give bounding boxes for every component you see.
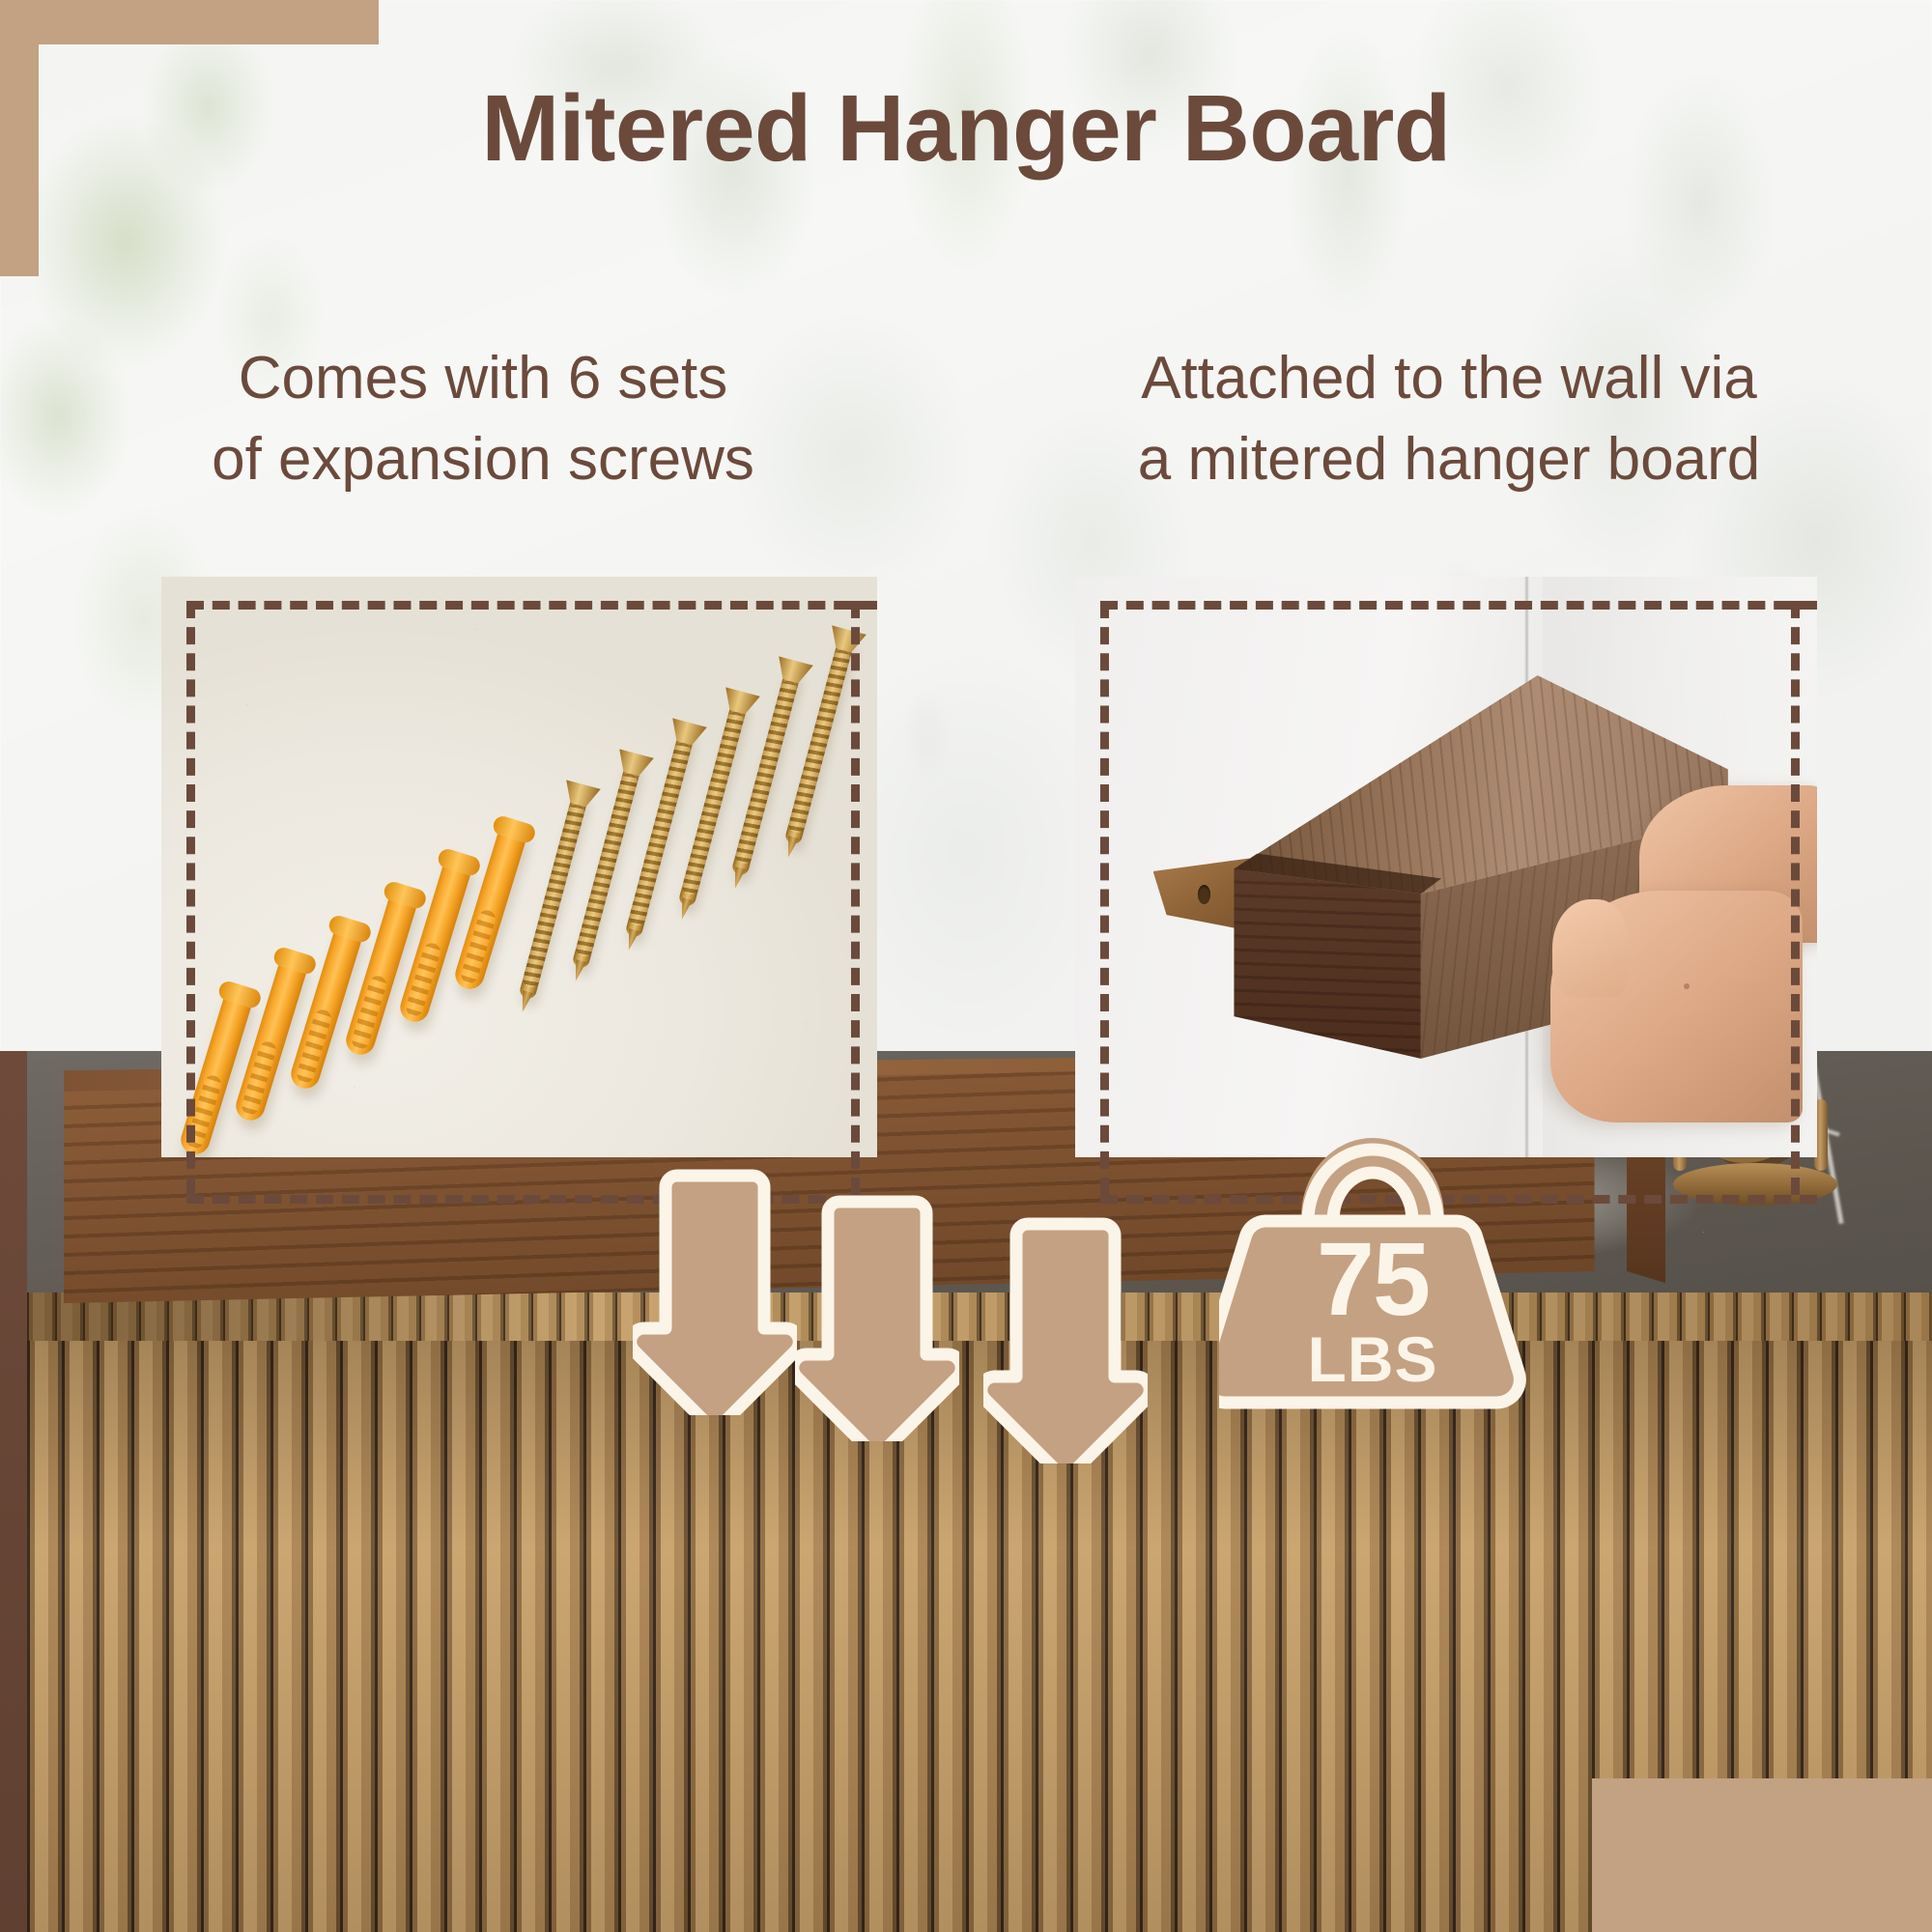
caption-row: Comes with 6 sets of expansion screws At… (0, 338, 1932, 501)
caption-hanger: Attached to the wall via a mitered hange… (966, 338, 1932, 501)
caption-screws: Comes with 6 sets of expansion screws (0, 338, 966, 501)
scene-left-edge-strip (0, 1051, 27, 1932)
hand-lower (1550, 891, 1803, 1122)
caption-screws-line1: Comes with 6 sets (239, 345, 728, 412)
panel-expansion-screws (161, 577, 877, 1157)
product-infographic: Mitered Hanger Board Comes with 6 sets o… (0, 0, 1932, 1932)
panel-hanger-board-install (1075, 577, 1817, 1157)
hanger-board-install-photo (1075, 577, 1817, 1157)
expansion-screws-photo (161, 577, 877, 1157)
corner-accent-bottom-right (1592, 1778, 1932, 1932)
cleat-screw-hole (1198, 885, 1210, 904)
arrow-down-icon (795, 1190, 959, 1441)
skin-detail-dot (1684, 983, 1690, 989)
arrow-down-icon (983, 1212, 1148, 1463)
caption-screws-line2: of expansion screws (0, 419, 966, 500)
weight-unit: LBS (1219, 1327, 1526, 1391)
arrow-down-icon (633, 1164, 797, 1415)
thumb (1552, 899, 1628, 997)
weight-value: 75 (1219, 1227, 1526, 1331)
page-title: Mitered Hanger Board (0, 81, 1932, 175)
caption-hanger-line2: a mitered hanger board (966, 419, 1932, 500)
clock-wooden-base (1673, 1163, 1837, 1206)
corner-accent-top-left-horizontal (0, 0, 379, 44)
caption-hanger-line1: Attached to the wall via (1141, 345, 1757, 412)
weight-capacity-badge: 75 LBS (1219, 1113, 1526, 1412)
